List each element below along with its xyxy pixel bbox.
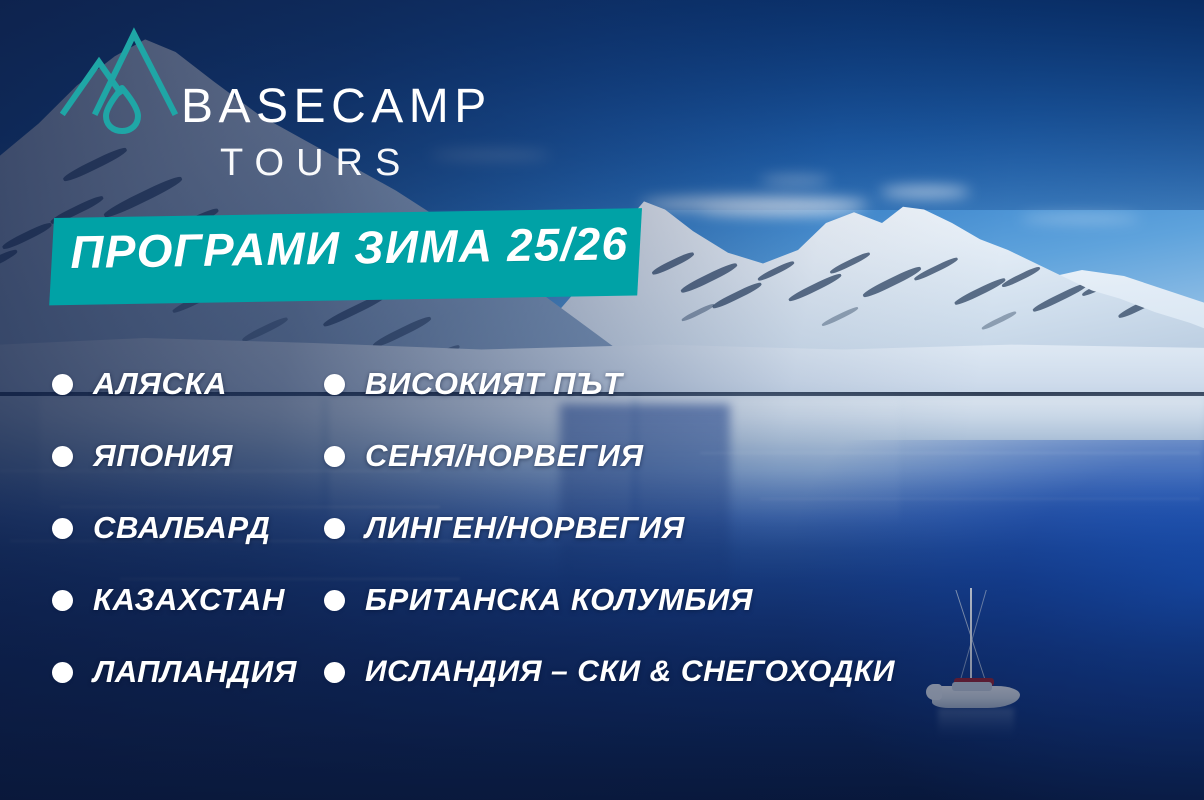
bullet-dot-icon [324,662,345,683]
program-item-label: ЛАПЛАНДИЯ [93,654,297,690]
bullet-dot-icon [324,590,345,611]
mountain-droplet-logo-icon [60,26,178,139]
bullet-dot-icon [52,446,73,467]
program-item-alaska[interactable]: АЛЯСКА [52,366,324,402]
program-item-japan[interactable]: ЯПОНИЯ [52,438,324,474]
program-item-high-road[interactable]: ВИСОКИЯТ ПЪТ [324,366,1084,402]
bullet-dot-icon [52,518,73,539]
program-item-label: ВИСОКИЯТ ПЪТ [365,366,623,402]
program-item-label: ЯПОНИЯ [93,438,233,474]
list-row: ЛАПЛАНДИЯ ИСЛАНДИЯ – СКИ & СНЕГОХОДКИ [52,636,1092,708]
program-item-label: ИСЛАНДИЯ – СКИ & СНЕГОХОДКИ [365,655,895,689]
program-item-label: СЕНЯ/НОРВЕГИЯ [365,438,644,474]
program-item-label: АЛЯСКА [93,366,227,402]
bullet-dot-icon [324,446,345,467]
program-item-british-columbia[interactable]: БРИТАНСКА КОЛУМБИЯ [324,582,1084,618]
bullet-dot-icon [324,374,345,395]
list-row: КАЗАХСТАН БРИТАНСКА КОЛУМБИЯ [52,564,1092,636]
program-list: АЛЯСКА ВИСОКИЯТ ПЪТ ЯПОНИЯ СЕНЯ/НОРВЕГИЯ… [52,348,1092,708]
list-row: СВАЛБАРД ЛИНГЕН/НОРВЕГИЯ [52,492,1092,564]
program-item-label: ЛИНГЕН/НОРВЕГИЯ [365,510,685,546]
bullet-dot-icon [52,590,73,611]
program-item-lyngen-norway[interactable]: ЛИНГЕН/НОРВЕГИЯ [324,510,1084,546]
program-item-kazakhstan[interactable]: КАЗАХСТАН [52,582,324,618]
page-title: ПРОГРАМИ ЗИМА 25/26 [70,216,629,279]
list-row: АЛЯСКА ВИСОКИЯТ ПЪТ [52,348,1092,420]
brand-name-secondary: TOURS [220,144,492,182]
brand-name-primary: BASECAMP [181,83,492,131]
poster-canvas: BASECAMP TOURS ПРОГРАМИ ЗИМА 25/26 АЛЯСК… [0,0,1204,800]
program-item-label: БРИТАНСКА КОЛУМБИЯ [365,582,753,618]
bullet-dot-icon [52,662,73,683]
program-item-label: КАЗАХСТАН [93,582,285,618]
program-item-lapland[interactable]: ЛАПЛАНДИЯ [52,654,324,690]
program-item-label: СВАЛБАРД [93,510,271,546]
brand-wordmark: BASECAMP TOURS [181,83,492,182]
bullet-dot-icon [52,374,73,395]
program-item-senja-norway[interactable]: СЕНЯ/НОРВЕГИЯ [324,438,1084,474]
headline-banner: ПРОГРАМИ ЗИМА 25/26 [48,205,648,309]
bullet-dot-icon [324,518,345,539]
program-item-iceland[interactable]: ИСЛАНДИЯ – СКИ & СНЕГОХОДКИ [324,655,1084,689]
program-item-svalbard[interactable]: СВАЛБАРД [52,510,324,546]
list-row: ЯПОНИЯ СЕНЯ/НОРВЕГИЯ [52,420,1092,492]
